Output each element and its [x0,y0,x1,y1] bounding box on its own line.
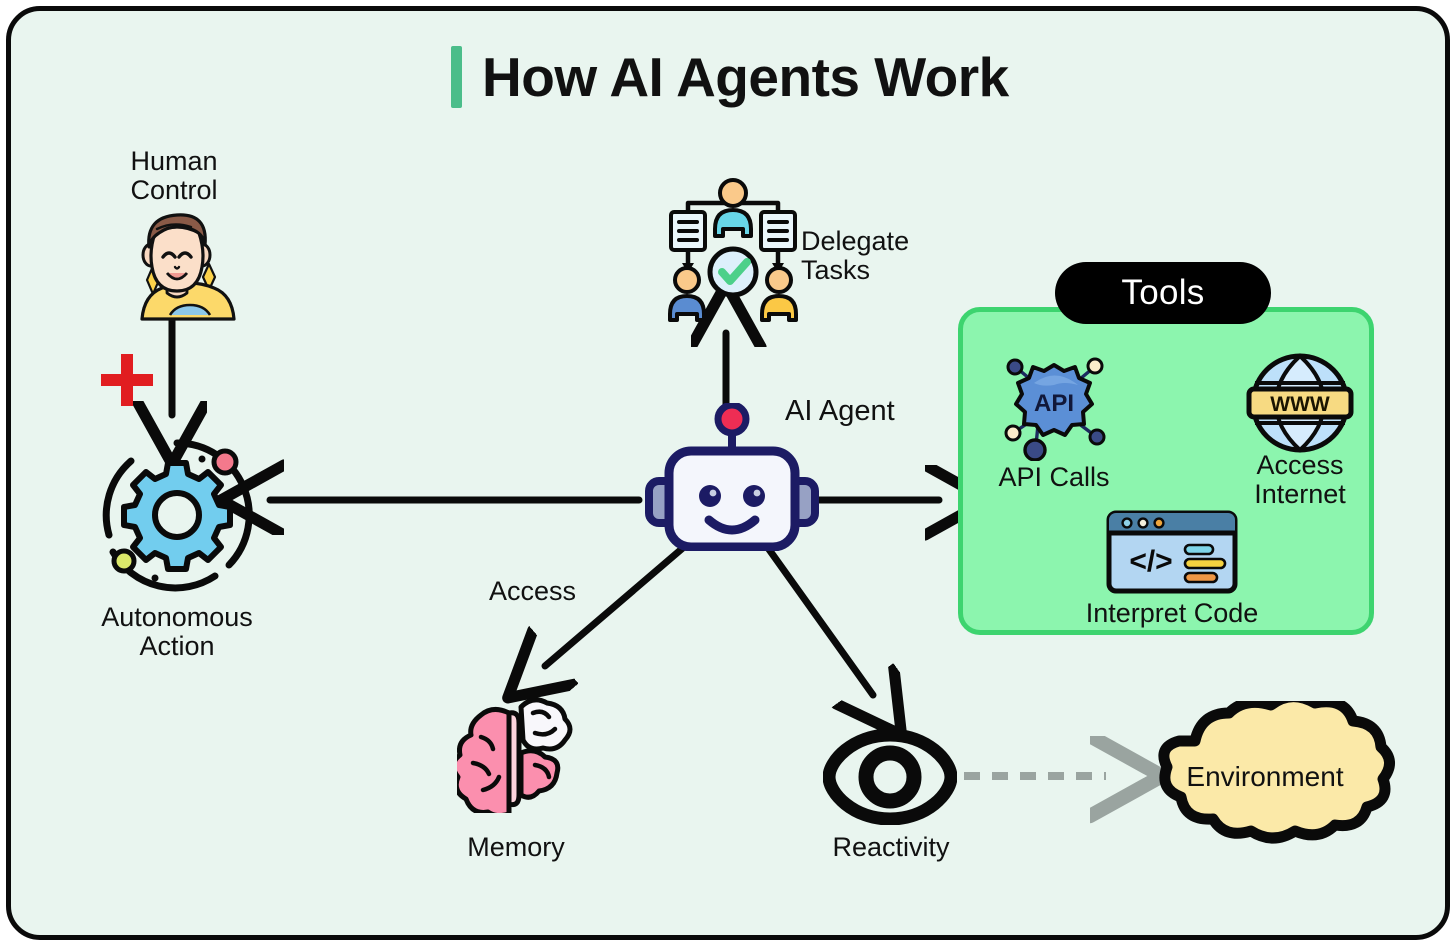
brain-icon [457,691,575,813]
org-chart-check-icon [659,177,807,322]
label-access-internet: Access Internet [1210,451,1390,509]
label-autonomous-action: Autonomous Action [57,603,297,661]
www-badge-text: WWW [1270,393,1330,416]
title-text: How AI Agents Work [482,45,1009,109]
page-title: How AI Agents Work [451,45,1009,109]
label-memory: Memory [431,833,601,862]
eye-icon [823,729,957,825]
person-avatar-icon [115,207,237,321]
gear-orbit-icon [97,435,257,595]
label-api-calls: API Calls [974,463,1134,492]
label-interpret-code: Interpret Code [1047,599,1297,628]
tools-header-label: Tools [1121,273,1204,313]
api-badge-text: API [1034,390,1074,417]
label-ai-agent: AI Agent [785,396,945,427]
arrow-agent-to-reactivity [763,541,873,695]
api-gear-icon: API [996,349,1112,461]
label-environment: Environment [1143,761,1387,793]
diagram-frame: How AI Agents Work [6,6,1450,940]
code-window-icon: </> [1105,509,1239,595]
label-delegate-tasks: Delegate Tasks [801,227,987,285]
tools-header-pill: Tools [1055,262,1271,324]
label-reactivity: Reactivity [801,833,981,862]
plus-icon [99,352,155,408]
diagram-canvas: How AI Agents Work [0,0,1456,946]
label-access: Access [489,577,609,606]
title-accent-bar [451,46,462,108]
label-human-control: Human Control [79,147,269,205]
globe-www-icon: WWW [1245,351,1355,455]
code-badge-text: </> [1129,545,1172,578]
